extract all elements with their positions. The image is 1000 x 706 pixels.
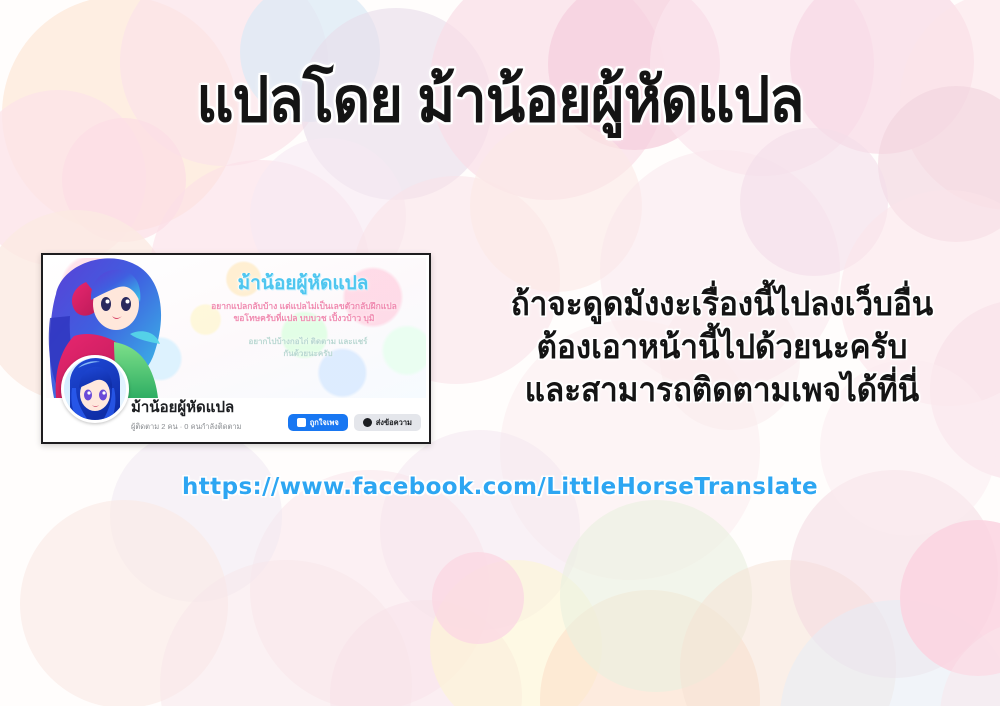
- thumbs-up-icon: [297, 418, 306, 427]
- page-followers-meta: ผู้ติดตาม 2 คน · 0 คนกำลังติดตาม: [131, 421, 242, 433]
- facebook-url-link[interactable]: https://www.facebook.com/LittleHorseTran…: [0, 474, 1000, 500]
- page-info: ม้าน้อยผู้หัดแปล ผู้ติดตาม 2 คน · 0 คนกำ…: [131, 400, 242, 433]
- avatar[interactable]: [61, 355, 129, 423]
- cover-note: อยากไปบ้างกอไก่ ติดตาม และแชร์ กันด้วยนะ…: [196, 336, 420, 360]
- page-title: แปลโดย ม้าน้อยผู้หัดแปล: [35, 68, 965, 133]
- like-page-button[interactable]: ถูกใจเพจ: [288, 414, 348, 431]
- cover-note-line2: กันด้วยนะครับ: [196, 348, 420, 360]
- cover-title: ม้าน้อยผู้หัดแปล: [186, 274, 420, 293]
- notice-line-2: ต้องเอาหน้านี้ไปด้วยนะครับ: [466, 326, 979, 369]
- cover-subtitle-line1: อยากแปลกลับบ้าง แต่แปลไม่เป็นเลขตัวกลับฝ…: [186, 300, 422, 312]
- notice-line-1: ถ้าจะดูดมังงะเรื่องนี้ไปลงเว็บอื่น: [466, 283, 979, 326]
- cover-subtitle: อยากแปลกลับบ้าง แต่แปลไม่เป็นเลขตัวกลับฝ…: [186, 300, 422, 325]
- send-message-button[interactable]: ส่งข้อความ: [354, 414, 421, 431]
- like-page-label: ถูกใจเพจ: [310, 419, 339, 427]
- cover-subtitle-line2: ขอโทษครับที่แปล บบบวช เปิ้งวบ้าว บุมิ: [186, 312, 422, 324]
- cover-note-line1: อยากไปบ้างกอไก่ ติดตาม และแชร์: [196, 336, 420, 348]
- send-message-label: ส่งข้อความ: [376, 419, 412, 427]
- page-root: แปลโดย ม้าน้อยผู้หัดแปล: [0, 0, 1000, 706]
- page-actions: ถูกใจเพจ ส่งข้อความ: [288, 414, 421, 431]
- avatar-artwork: [64, 358, 126, 420]
- facebook-page-card[interactable]: ม้าน้อยผู้หัดแปล อยากแปลกลับบ้าง แต่แปลไ…: [41, 253, 431, 444]
- page-name: ม้าน้อยผู้หัดแปล: [131, 400, 242, 417]
- messenger-icon: [363, 418, 372, 427]
- notice-message: ถ้าจะดูดมังงะเรื่องนี้ไปลงเว็บอื่น ต้องเ…: [466, 283, 979, 412]
- notice-line-3: และสามารถติดตามเพจได้ที่นี่: [466, 369, 979, 412]
